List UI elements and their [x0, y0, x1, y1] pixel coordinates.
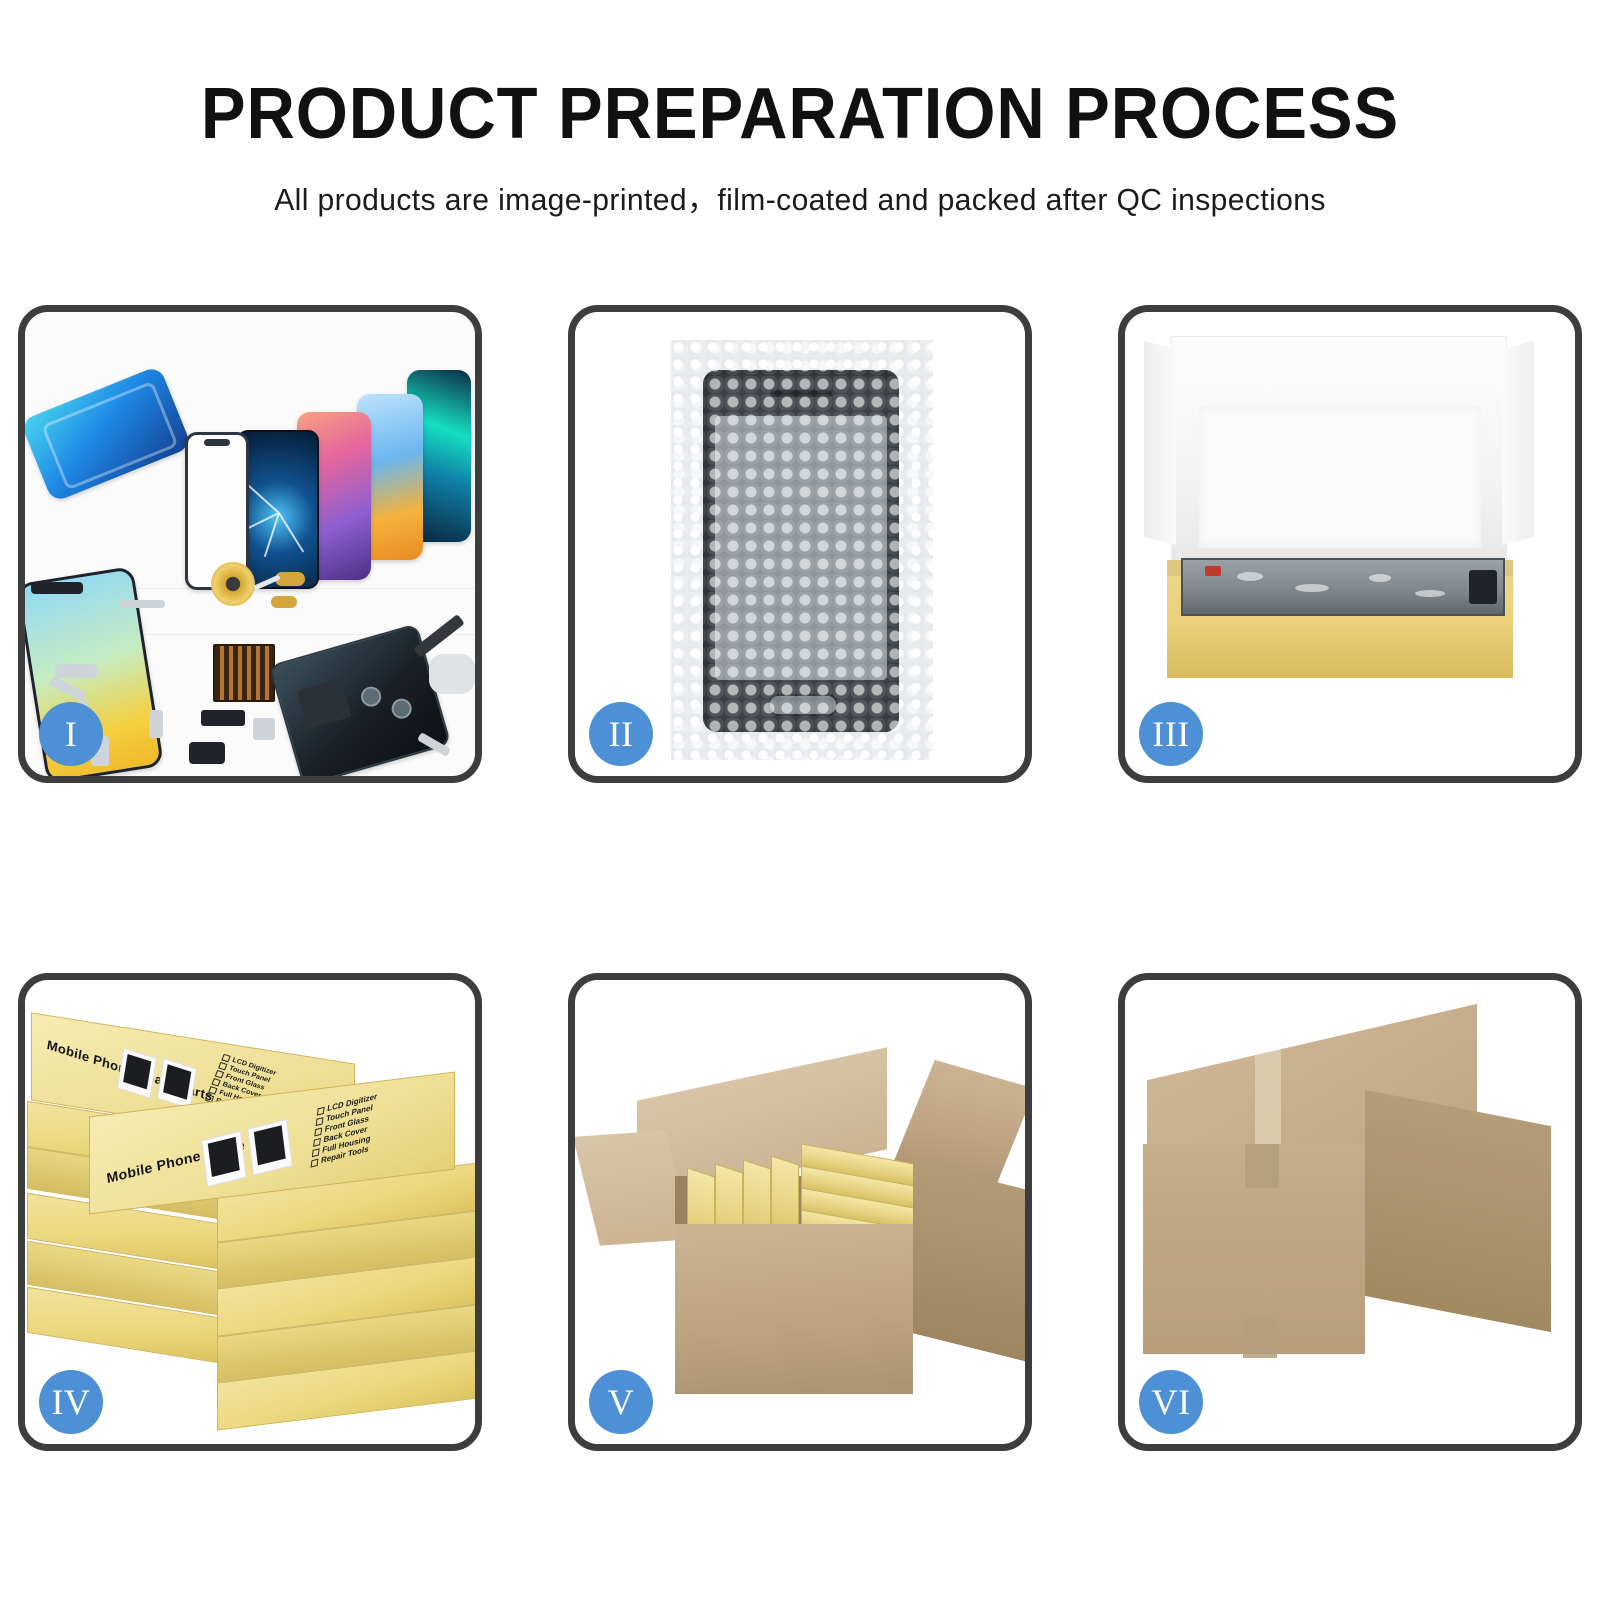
step-image-spare-parts-overview — [25, 312, 475, 776]
tool-handle-graphic — [429, 654, 475, 694]
camera-module-graphic — [55, 664, 97, 678]
speaker-box-graphic — [189, 742, 225, 764]
step-image-inner-box-packing — [1125, 312, 1575, 776]
retail-box-checklist: LCD Digitizer Touch Panel Front Glass Ba… — [310, 1092, 377, 1169]
wrapped-screen-graphic — [703, 370, 899, 732]
wireless-coil-graphic — [211, 562, 255, 606]
step-badge-6: VI — [1139, 1370, 1203, 1434]
tape-tab — [1243, 1318, 1277, 1358]
step-card-5[interactable]: V — [568, 973, 1032, 1451]
step-badge-5: V — [589, 1370, 653, 1434]
adhesive-sticker-graphic — [25, 365, 192, 503]
taptic-part-graphic — [253, 718, 275, 740]
screwdriver-graphic — [413, 614, 465, 658]
bubble-wrap-scene — [575, 312, 1025, 776]
step-card-3[interactable]: III — [1118, 305, 1582, 783]
carton-side-panel — [1365, 1090, 1551, 1332]
mailer-box-scene — [1125, 312, 1575, 776]
carton-front-panel — [675, 1224, 913, 1394]
step-image-sealed-carton — [1125, 980, 1575, 1444]
open-carton-scene — [575, 980, 1025, 1444]
retail-box-thumbnail — [201, 1131, 247, 1188]
page-header: PRODUCT PREPARATION PROCESS All products… — [0, 0, 1600, 219]
carton-side-panel — [913, 1161, 1025, 1370]
step-card-1[interactable]: I — [18, 305, 482, 783]
sealed-carton-scene — [1125, 980, 1575, 1444]
step-card-6[interactable]: VI — [1118, 973, 1582, 1451]
step-card-2[interactable]: II — [568, 305, 1032, 783]
box-stack-scene: Mobile Phone Spare Parts LCD Digitizer T… — [25, 980, 475, 1444]
retail-box-thumbnail — [247, 1119, 293, 1176]
small-part-a-graphic — [119, 600, 165, 608]
bracket-graphic — [149, 710, 163, 738]
parts-scene — [25, 312, 475, 776]
speaker-part-graphic — [31, 582, 83, 594]
step-badge-1: I — [39, 702, 103, 766]
foam-insert-graphic — [1199, 406, 1481, 548]
phone-cracked-lcd-graphic — [237, 430, 319, 589]
vibrator-graphic — [201, 710, 245, 726]
page-title: PRODUCT PREPARATION PROCESS — [56, 0, 1544, 150]
packed-screen-graphic — [1181, 558, 1505, 616]
flex-connector-2-graphic — [271, 596, 297, 608]
step-card-4[interactable]: Mobile Phone Spare Parts LCD Digitizer T… — [18, 973, 482, 1451]
step-image-carton-loading — [575, 980, 1025, 1444]
step-badge-4: IV — [39, 1370, 103, 1434]
process-steps-grid: I II — [18, 305, 1582, 1451]
step-badge-3: III — [1139, 702, 1203, 766]
tape-tab — [1245, 1144, 1279, 1188]
retail-box-thumbnail — [117, 1048, 157, 1099]
page-subtitle: All products are image-printed，film-coat… — [24, 150, 1576, 219]
retail-box-thumbnail — [157, 1058, 197, 1109]
ic-chip-graphic — [213, 644, 275, 702]
step-badge-2: II — [589, 702, 653, 766]
carton-front-panel — [1143, 1144, 1365, 1354]
step-image-labelled-boxes-stack: Mobile Phone Spare Parts LCD Digitizer T… — [25, 980, 475, 1444]
step-image-bubble-wrap — [575, 312, 1025, 776]
